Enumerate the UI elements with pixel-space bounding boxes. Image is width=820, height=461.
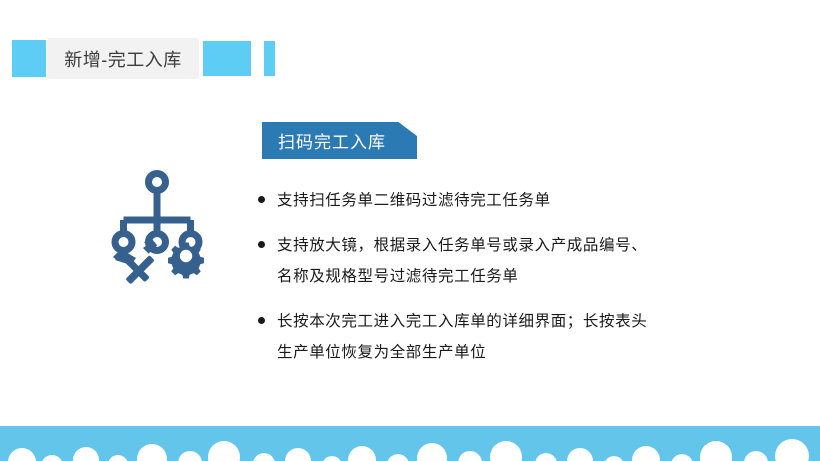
list-item-line: 支持扫任务单二维码过滤待完工任务单 [277,185,778,216]
page-title: 新增-完工入库 [64,46,182,72]
page-title-panel: 新增-完工入库 [47,38,199,79]
list-item-text: 支持扫任务单二维码过滤待完工任务单 [277,185,778,216]
header-block-left [12,40,46,77]
hierarchy-tools-gear-icon [98,168,216,286]
header-bar-a [264,41,275,76]
list-item-line: 支持放大镜，根据录入任务单号或录入产成品编号、 [277,230,778,261]
list-item: 长按本次完工进入完工入库单的详细界面；长按表头 生产单位恢复为全部生产单位 [258,306,778,368]
slide-canvas: 新增-完工入库 扫码完工入库 [0,0,820,461]
list-item: 支持放大镜，根据录入任务单号或录入产成品编号、 名称及规格型号过滤待完工任务单 [258,230,778,292]
list-item-text: 长按本次完工进入完工入库单的详细界面；长按表头 生产单位恢复为全部生产单位 [277,306,778,368]
bullet-dot-icon [258,196,265,203]
bullet-dot-icon [258,241,265,248]
list-item: 支持扫任务单二维码过滤待完工任务单 [258,185,778,216]
cloud-band [0,426,820,461]
section-badge: 扫码完工入库 [262,122,417,159]
list-item-line: 生产单位恢复为全部生产单位 [277,337,778,368]
list-item-line: 名称及规格型号过滤待完工任务单 [277,261,778,292]
bullet-dot-icon [258,317,265,324]
list-item-text: 支持放大镜，根据录入任务单号或录入产成品编号、 名称及规格型号过滤待完工任务单 [277,230,778,292]
feature-bullet-list: 支持扫任务单二维码过滤待完工任务单 支持放大镜，根据录入任务单号或录入产成品编号… [258,185,778,382]
section-badge-label: 扫码完工入库 [278,128,386,153]
list-item-line: 长按本次完工进入完工入库单的详细界面；长按表头 [277,306,778,337]
header-block-mid [203,41,251,76]
cloud-shapes [0,426,820,461]
